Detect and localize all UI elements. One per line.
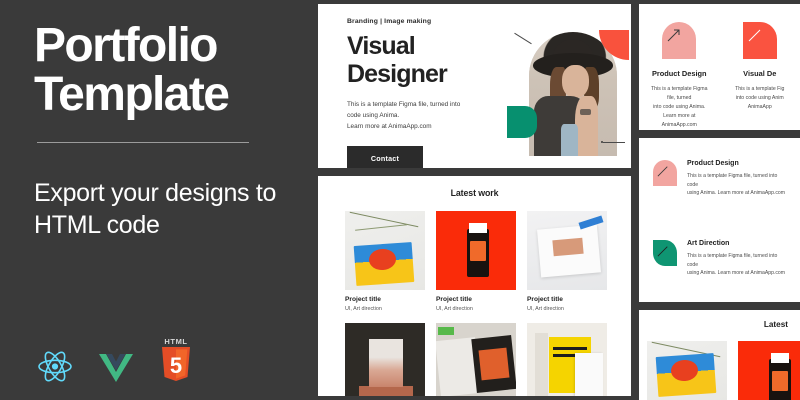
service-description: This is a template Fig into code using A… [730, 85, 791, 112]
hero-eyebrow: Branding | Image making [347, 18, 499, 25]
service-desc-line3: AnimaApp.com [649, 121, 710, 130]
leaf-green-icon [653, 240, 677, 266]
services-top-card: Product Design This is a template Figma … [639, 4, 800, 130]
left-panel: Portfolio Template Export your designs t… [0, 0, 315, 400]
arch-pink-icon [653, 160, 677, 186]
service-title: Product Design [649, 69, 710, 78]
service-description: This is a template Figma file, turned in… [649, 85, 710, 130]
arch-red-icon [743, 22, 777, 59]
page-title-line2: Template [34, 71, 285, 120]
service-desc-line2: using Anima. Learn more at AnimaApp.com [687, 189, 788, 198]
svg-text:5: 5 [170, 353, 182, 378]
work-grid: Project title UI, Art direction Project … [318, 198, 631, 396]
service-desc-line3: AnimaApp [730, 103, 791, 112]
work-item[interactable]: Project title UI, Art direction [345, 211, 425, 312]
project-thumbnail[interactable] [436, 323, 516, 396]
diagonal-arrow-icon [657, 245, 669, 257]
project-thumbnail[interactable] [527, 323, 607, 396]
project-thumbnail[interactable] [738, 341, 800, 400]
service-title: Art Direction [687, 240, 788, 247]
service-row-art-direction[interactable]: Art Direction This is a template Figma f… [653, 240, 788, 278]
hero-artwork [507, 18, 615, 168]
project-title: Project title [436, 296, 516, 303]
page-subtitle: Export your designs to HTML code [34, 177, 285, 241]
hero-title: Visual Designer [347, 33, 499, 88]
tech-logo-row: HTML 5 [37, 337, 193, 388]
diagonal-arrow-icon [667, 28, 681, 42]
hero-text-block: Branding | Image making Visual Designer … [347, 18, 499, 168]
portrait-image [529, 32, 617, 156]
hero-card: Branding | Image making Visual Designer … [318, 4, 631, 168]
project-thumbnail[interactable] [345, 211, 425, 290]
diagonal-arrow-icon [657, 165, 669, 177]
service-title: Product Design [687, 160, 788, 167]
work-item[interactable] [527, 323, 607, 396]
service-desc-line1: This is a template Figma file, turned in… [687, 252, 788, 269]
service-item-visual-design[interactable]: Visual De This is a template Fig into co… [720, 22, 800, 130]
page-title: Portfolio Template [34, 22, 285, 120]
poster-canvas: Portfolio Template Export your designs t… [0, 0, 800, 400]
hero-title-line1: Visual [347, 33, 499, 61]
accent-line-bottom [603, 142, 625, 143]
services-list-card: Product Design This is a template Figma … [639, 138, 800, 302]
hero-description-line3: Learn more at AnimaApp.com [347, 121, 499, 132]
project-meta: UI, Art direction [345, 306, 425, 312]
service-desc-line1: This is a template Figma file, turned [649, 85, 710, 103]
project-thumbnail[interactable] [527, 211, 607, 290]
service-desc-line2: using Anima. Learn more at AnimaApp.com [687, 269, 788, 278]
project-meta: UI, Art direction [527, 306, 607, 312]
service-desc-line1: This is a template Figma file, turned in… [687, 172, 788, 189]
service-title: Visual De [730, 69, 791, 78]
html5-logo-icon: HTML 5 [159, 337, 193, 388]
latest-work-card: Latest work Project title UI, Art direct… [318, 176, 631, 396]
service-desc-line2: into code using Anim [730, 94, 791, 103]
vue-logo-icon [99, 353, 133, 388]
service-description: This is a template Figma file, turned in… [687, 252, 788, 278]
html5-wordmark: HTML [159, 337, 193, 346]
service-desc-line1: This is a template Fig [730, 85, 791, 94]
work-item[interactable] [345, 323, 425, 396]
project-thumbnail[interactable] [345, 323, 425, 396]
latest-work-card-right: Latest [639, 310, 800, 400]
service-item-product-design[interactable]: Product Design This is a template Figma … [639, 22, 720, 130]
service-description: This is a template Figma file, turned in… [687, 172, 788, 198]
hero-title-line2: Designer [347, 61, 499, 89]
title-divider [37, 142, 249, 143]
service-row-product-design[interactable]: Product Design This is a template Figma … [653, 160, 788, 198]
project-meta: UI, Art direction [436, 306, 516, 312]
service-desc-line2: into code using Anima. Learn more at [649, 103, 710, 121]
page-title-line1: Portfolio [34, 22, 285, 71]
latest-work-heading-right: Latest [639, 310, 800, 329]
project-thumbnail[interactable] [436, 211, 516, 290]
diagonal-arrow-icon [748, 28, 762, 42]
arch-pink-icon [662, 22, 696, 59]
hero-description-line1: This is a template Figma file, turned in… [347, 99, 499, 110]
work-grid-right [639, 329, 800, 400]
hero-description: This is a template Figma file, turned in… [347, 99, 499, 132]
contact-button[interactable]: Contact [347, 146, 423, 168]
project-title: Project title [345, 296, 425, 303]
hero-description-line2: code using Anima. [347, 110, 499, 121]
project-thumbnail[interactable] [647, 341, 727, 400]
accent-dot-bottom [601, 141, 603, 143]
latest-work-heading: Latest work [318, 176, 631, 198]
work-item[interactable]: Project title UI, Art direction [436, 211, 516, 312]
project-title: Project title [527, 296, 607, 303]
react-logo-icon [37, 350, 73, 388]
green-rounded-shape [507, 106, 537, 138]
work-item[interactable] [436, 323, 516, 396]
work-item[interactable]: Project title UI, Art direction [527, 211, 607, 312]
